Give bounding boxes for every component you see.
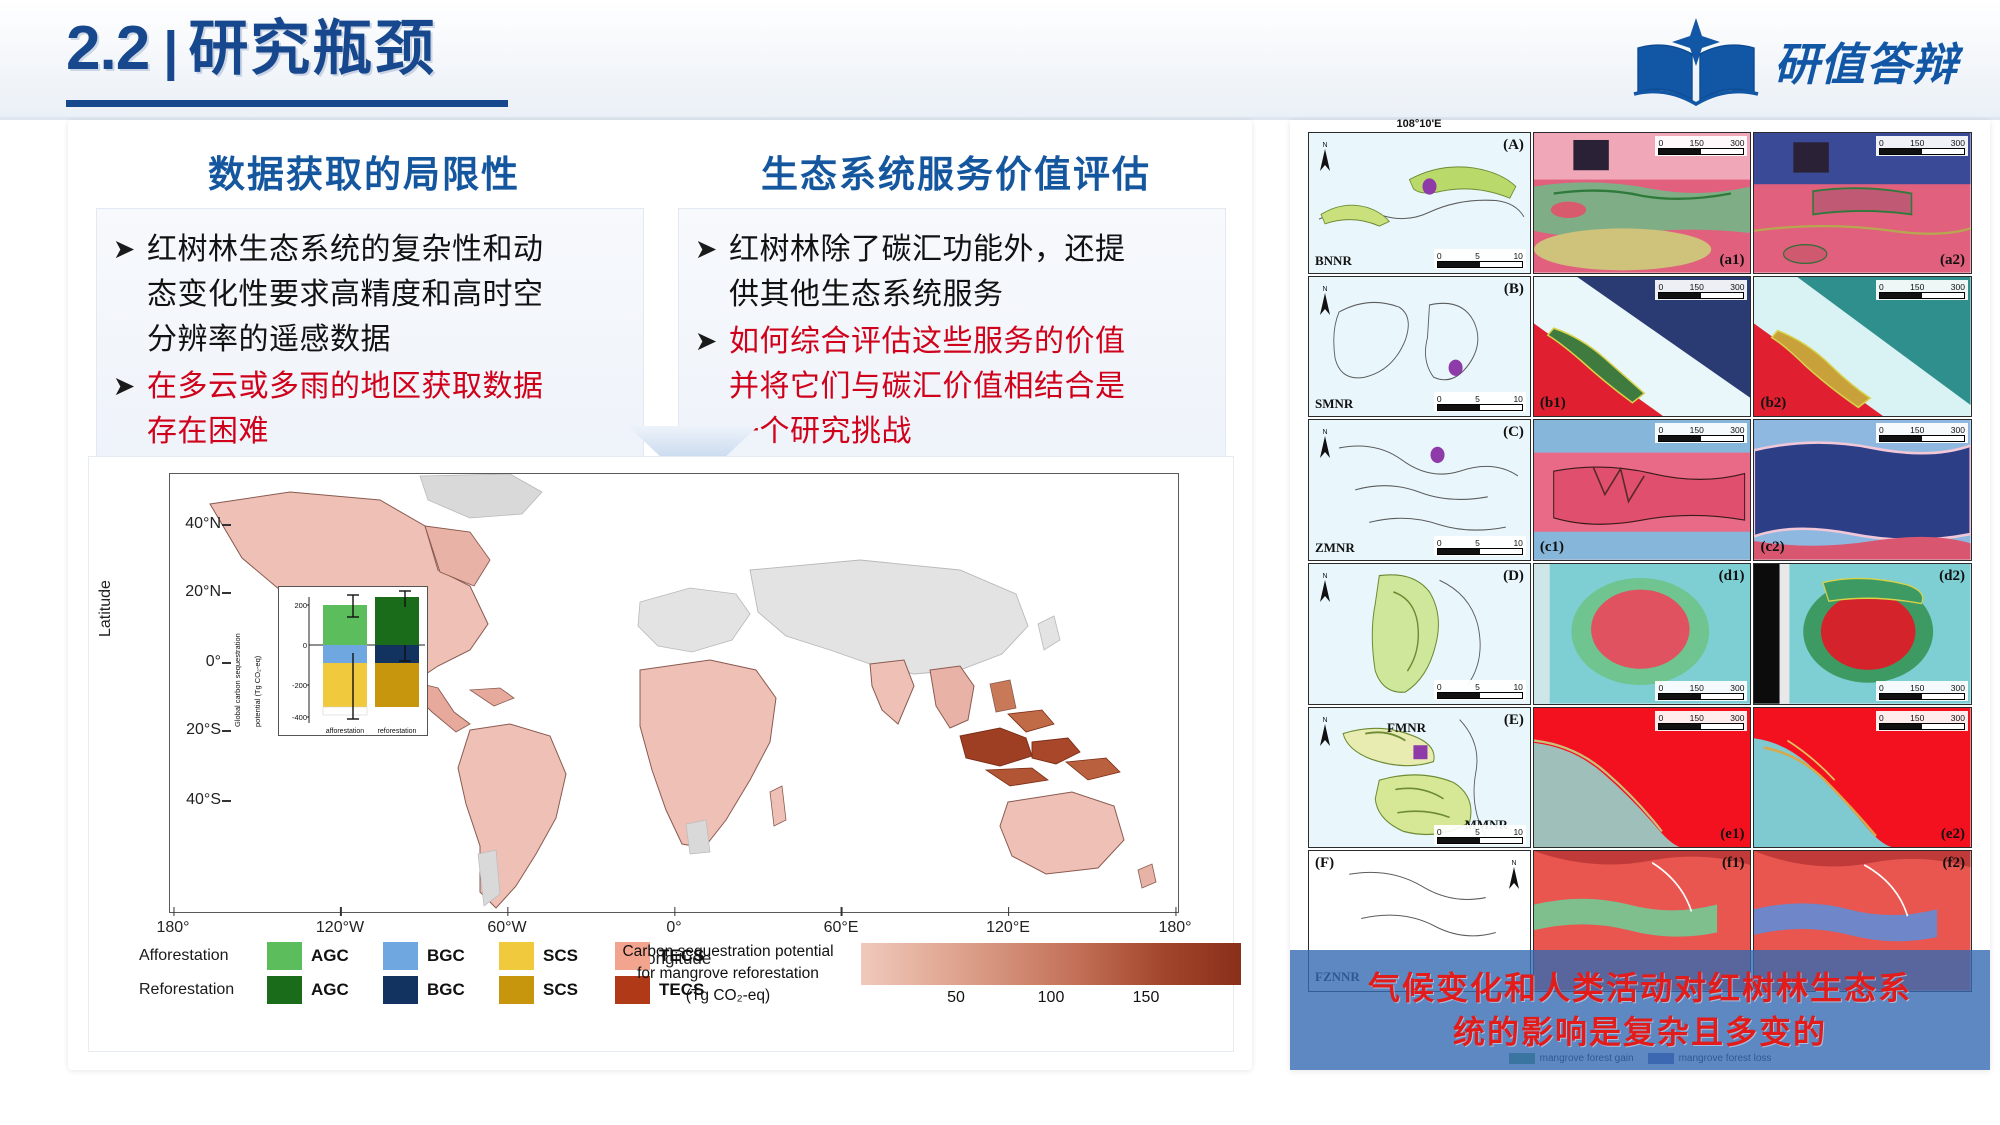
scale-tick: 150 (1910, 282, 1924, 292)
scale-bar-m: 0150300 (1876, 136, 1968, 156)
highlight-banner: 气候变化和人类活动对红树林生态系 统的影响是复杂且多变的 (1290, 950, 1990, 1070)
panel-tag-f2: (f2) (1942, 855, 1965, 872)
map-ylabel: Latitude (97, 580, 115, 637)
svg-text:N: N (1511, 860, 1516, 867)
reserve-name-fmnr: FMNR (1387, 720, 1426, 736)
scale-tick: 300 (1951, 683, 1965, 693)
page-header: 2.2 | 研究瓶颈 研值答辩 (0, 0, 2000, 120)
bullet-arrow-icon: ➤ (693, 319, 719, 364)
open-book-icon (1632, 14, 1760, 106)
scale-tick: 150 (1910, 683, 1924, 693)
map-ytick: 0° (151, 653, 221, 671)
scale-bar-m: 0150300 (1655, 136, 1747, 156)
satellite-figure-grid: N (A) BNNR 0510 (a1 (1308, 132, 1972, 992)
scale-tick: 150 (1910, 713, 1924, 723)
section-title: 研究瓶颈 (188, 19, 436, 79)
panel-tag-c: (C) (1503, 424, 1524, 441)
panel-tag-b1: (b1) (1540, 395, 1566, 412)
left-content-card: 数据获取的局限性 生态系统服务价值评估 ➤ 红树林生态系统的复杂性和动 态变化性… (68, 120, 1252, 1070)
satellite-image-b1: (b1) 0150300 (1533, 276, 1752, 418)
figure-lon-label: 108°10'E (1308, 118, 1530, 130)
scale-tick: 300 (1951, 138, 1965, 148)
svg-text:reforestation: reforestation (378, 728, 417, 735)
legend-swatch-agc (267, 976, 302, 1004)
scale-bar-km: 0510 (1434, 249, 1526, 269)
location-map-b: N (B) SMNR 0510 (1308, 276, 1531, 418)
legend-label: BGC (427, 980, 499, 1000)
legend-label: AGC (311, 980, 383, 1000)
panel-tag-a2: (a2) (1940, 252, 1965, 269)
scale-tick: 150 (1690, 282, 1704, 292)
scale-tick: 300 (1951, 425, 1965, 435)
scale-bar-m: 0150300 (1876, 423, 1968, 443)
bullet-item-emphasis: ➤ 在多云或多雨的地区获取数据 存在困难 (111, 364, 625, 454)
bullet-item: ➤ 红树林除了碳汇功能外，还提 供其他生态系统服务 (693, 227, 1207, 317)
location-map-e: N (E) FMNR MMNR 0510 (1308, 707, 1531, 849)
legend-swatch-agc (267, 942, 302, 970)
scale-tick: 300 (1951, 713, 1965, 723)
scale-tick: 150 (1910, 138, 1924, 148)
scale-tick: 0 (1437, 251, 1442, 261)
bullet-line: 分辨率的遥感数据 (147, 323, 391, 356)
panel-tag-f: (F) (1315, 855, 1334, 872)
reserve-name-smnr: SMNR (1315, 396, 1353, 412)
scale-tick: 0 (1437, 394, 1442, 404)
panel-tag-a: (A) (1503, 137, 1524, 154)
bullet-arrow-icon: ➤ (693, 227, 719, 272)
scale-tick: 150 (1910, 425, 1924, 435)
bullet-box-left: ➤ 红树林生态系统的复杂性和动 态变化性要求高精度和高时空 分辨率的遥感数据 ➤… (96, 208, 644, 473)
north-arrow-icon: N (1317, 139, 1333, 173)
legend-row-name: Afforestation (139, 947, 267, 965)
map-ytick: 20°N (151, 583, 221, 601)
reserve-name-zmnr: ZMNR (1315, 540, 1355, 556)
panel-tag-b: (B) (1504, 281, 1524, 298)
bullet-item: ➤ 红树林生态系统的复杂性和动 态变化性要求高精度和高时空 分辨率的遥感数据 (111, 227, 625, 362)
map-ytick: 40°N (151, 515, 221, 533)
scale-bar-m: 0150300 (1876, 280, 1968, 300)
scale-bar-m: 0150300 (1655, 423, 1747, 443)
scale-tick: 150 (1690, 683, 1704, 693)
subheading-ecosystem-valuation: 生态系统服务价值评估 (660, 144, 1252, 198)
scale-tick: 150 (1690, 713, 1704, 723)
banner-line: 统的影响是复杂且多变的 (1453, 1010, 1827, 1054)
subheadings: 数据获取的局限性 生态系统服务价值评估 (68, 144, 1252, 198)
legend-swatch-bgc (383, 942, 418, 970)
legend-label: SCS (543, 980, 615, 1000)
bullet-box-right: ➤ 红树林除了碳汇功能外，还提 供其他生态系统服务 ➤ 如何综合评估这些服务的价… (678, 208, 1226, 473)
inset-bars: afforestation reforestation (279, 587, 429, 737)
scale-bar-km: 0510 (1434, 825, 1526, 845)
scale-tick: 0 (1879, 282, 1884, 292)
scale-tick: 5 (1475, 538, 1480, 548)
bullet-line: 如何综合评估这些服务的价值 (729, 325, 1126, 358)
scale-tick: 5 (1475, 682, 1480, 692)
banner-line: 气候变化和人类活动对红树林生态系 (1368, 966, 1912, 1010)
panel-tag-c1: (c1) (1540, 539, 1564, 556)
bullet-text: 红树林除了碳汇功能外，还提 供其他生态系统服务 (729, 227, 1126, 317)
north-arrow-icon: N (1317, 714, 1333, 748)
scale-tick: 0 (1879, 138, 1884, 148)
legend-swatch-scs (499, 976, 534, 1004)
satellite-image-e2: (e2) 0150300 (1753, 707, 1972, 849)
bullet-line: 红树林生态系统的复杂性和动 (147, 233, 544, 266)
colorbar-title-line: (Tg CO₂-eq) (686, 987, 770, 1004)
scale-tick: 0 (1658, 683, 1663, 693)
bullet-arrow-icon: ➤ (111, 227, 137, 272)
svg-text:afforestation: afforestation (326, 728, 365, 735)
legend-swatch-scs (499, 942, 534, 970)
scale-bar-km: 0510 (1434, 392, 1526, 412)
section-number: 2.2 (66, 18, 149, 80)
scale-bar-m: 0150300 (1876, 711, 1968, 731)
legend-label: AGC (311, 946, 383, 966)
scale-tick: 150 (1690, 425, 1704, 435)
scale-bar-m: 0150300 (1876, 681, 1968, 701)
title-underline (66, 100, 508, 107)
scale-tick: 300 (1951, 282, 1965, 292)
scale-tick: 300 (1730, 282, 1744, 292)
north-arrow-icon: N (1506, 857, 1522, 891)
subheading-data-limitation: 数据获取的局限性 (68, 144, 660, 198)
legend-swatch-bgc (383, 976, 418, 1004)
satellite-image-d2: (d2) 0150300 (1753, 563, 1972, 705)
inset-ylabel-2: potential (Tg CO₂-eq) (253, 577, 262, 727)
map-ytick: 40°S (151, 791, 221, 809)
scale-tick: 10 (1513, 538, 1522, 548)
svg-text:N: N (1322, 429, 1327, 436)
panel-tag-e: (E) (1504, 712, 1524, 729)
legend-label: BGC (427, 946, 499, 966)
bullet-text: 红树林生态系统的复杂性和动 态变化性要求高精度和高时空 分辨率的遥感数据 (147, 227, 544, 362)
logo-text: 研值答辩 (1774, 28, 1958, 93)
scale-tick: 0 (1658, 425, 1663, 435)
colorbar-title-line: for mangrove reforestation (637, 965, 819, 982)
inset-bar-chart: Global carbon sequestration potential (T… (278, 586, 428, 736)
bullet-item-emphasis: ➤ 如何综合评估这些服务的价值 并将它们与碳汇价值相结合是 一个研究挑战 (693, 319, 1207, 454)
svg-text:N: N (1322, 717, 1327, 724)
scale-tick: 10 (1513, 682, 1522, 692)
bullet-arrow-icon: ➤ (111, 364, 137, 409)
scale-tick: 10 (1513, 827, 1522, 837)
scale-bar-m: 0150300 (1655, 280, 1747, 300)
satellite-image-c2: (c2) 0150300 (1753, 419, 1972, 561)
scale-tick: 300 (1730, 713, 1744, 723)
panel-tag-c2: (c2) (1760, 539, 1784, 556)
svg-text:N: N (1322, 286, 1327, 293)
bullet-line: 存在困难 (147, 415, 269, 448)
svg-text:N: N (1322, 142, 1327, 149)
scale-tick: 0 (1658, 138, 1663, 148)
scale-tick: 0 (1658, 713, 1663, 723)
scale-bar-m: 0150300 (1655, 711, 1747, 731)
scale-tick: 0 (1437, 538, 1442, 548)
scale-bar-km: 0510 (1434, 536, 1526, 556)
scale-tick: 150 (1690, 138, 1704, 148)
title-separator: | (163, 24, 178, 78)
scale-tick: 300 (1730, 425, 1744, 435)
map-ytick: 20°S (151, 721, 221, 739)
satellite-image-c1: (c1) 0150300 (1533, 419, 1752, 561)
bullet-text: 如何综合评估这些服务的价值 并将它们与碳汇价值相结合是 一个研究挑战 (729, 319, 1126, 454)
panel-tag-e1: (e1) (1720, 826, 1744, 843)
location-map-c: N (C) ZMNR 0510 (1308, 419, 1531, 561)
scale-tick: 5 (1475, 394, 1480, 404)
satellite-image-b2: (b2) 0150300 (1753, 276, 1972, 418)
legend-row-name: Reforestation (139, 981, 267, 999)
scale-tick: 300 (1730, 683, 1744, 693)
scale-tick: 5 (1475, 827, 1480, 837)
colorbar-tick: 50 (947, 989, 965, 1007)
right-figure-card: 108°10'E N (A) BNNR 0510 (1290, 120, 1990, 1070)
bullet-line: 供其他生态系统服务 (729, 278, 1004, 311)
scale-tick: 0 (1879, 683, 1884, 693)
scale-tick: 5 (1475, 251, 1480, 261)
scale-tick: 10 (1513, 394, 1522, 404)
colorbar-title: Carbon sequestration potential for mangr… (613, 941, 843, 1007)
bullet-line: 红树林除了碳汇功能外，还提 (729, 233, 1126, 266)
north-arrow-icon: N (1317, 570, 1333, 604)
satellite-image-a2: (a2) 0150300 (1753, 132, 1972, 274)
world-map-figure: Global carbon sequestration potential (T… (88, 456, 1234, 1052)
svg-text:N: N (1322, 573, 1327, 580)
colorbar-title-line: Carbon sequestration potential (622, 943, 833, 960)
slide-body: 数据获取的局限性 生态系统服务价值评估 ➤ 红树林生态系统的复杂性和动 态变化性… (0, 120, 2000, 1125)
scale-tick: 0 (1658, 282, 1663, 292)
scale-tick: 10 (1513, 251, 1522, 261)
colorbar-gradient (861, 943, 1241, 985)
satellite-image-d1: (d1) 0150300 (1533, 563, 1752, 705)
scale-tick: 0 (1879, 425, 1884, 435)
scale-bar-m: 0150300 (1655, 681, 1747, 701)
bullet-text: 在多云或多雨的地区获取数据 存在困难 (147, 364, 544, 454)
location-map-d: N (D) 0510 (1308, 563, 1531, 705)
legend-label: SCS (543, 946, 615, 966)
panel-tag-d: (D) (1503, 568, 1524, 585)
bullet-line: 在多云或多雨的地区获取数据 (147, 370, 544, 403)
panel-tag-a1: (a1) (1719, 252, 1744, 269)
north-arrow-icon: N (1317, 283, 1333, 317)
scale-tick: 300 (1730, 138, 1744, 148)
map-plot-area: Global carbon sequestration potential (T… (169, 473, 1179, 913)
inset-ylabel-1: Global carbon sequestration (233, 577, 242, 727)
panel-tag-b2: (b2) (1760, 395, 1786, 412)
panel-tag-d1: (d1) (1719, 568, 1745, 585)
panel-tag-d2: (d2) (1939, 568, 1965, 585)
satellite-image-e1: (e1) 0150300 (1533, 707, 1752, 849)
scale-tick: 0 (1879, 713, 1884, 723)
satellite-image-a1: (a1) 0150300 (1533, 132, 1752, 274)
panel-tag-f1: (f1) (1722, 855, 1745, 872)
page-title: 2.2 | 研究瓶颈 (66, 18, 436, 80)
reserve-name-bnnr: BNNR (1315, 253, 1352, 269)
scale-tick: 0 (1437, 682, 1442, 692)
bullet-line: 态变化性要求高精度和高时空 (147, 278, 544, 311)
colorbar-tick: 150 (1133, 989, 1160, 1007)
scale-tick: 0 (1437, 827, 1442, 837)
brand-logo: 研值答辩 (1632, 14, 1958, 106)
panel-tag-e2: (e2) (1941, 826, 1965, 843)
north-arrow-icon: N (1317, 426, 1333, 460)
bullet-line: 并将它们与碳汇价值相结合是 (729, 370, 1126, 403)
scale-bar-km: 0510 (1434, 680, 1526, 700)
location-map-a: N (A) BNNR 0510 (1308, 132, 1531, 274)
colorbar-tick: 100 (1038, 989, 1065, 1007)
map-legend: Afforestation AGC BGC SCS TECS Reforesta… (113, 931, 1213, 1041)
